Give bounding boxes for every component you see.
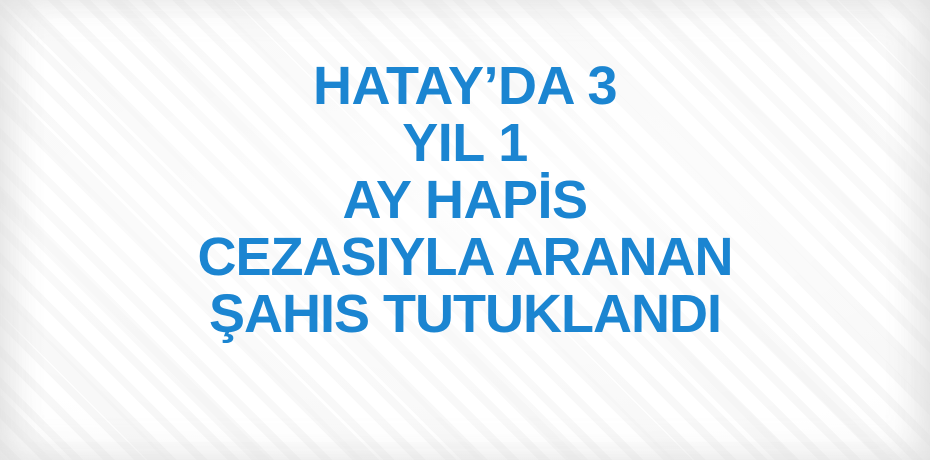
headline-block: HATAY’DA 3 YIL 1 AY HAPİS CEZASIYLA ARAN… xyxy=(0,58,930,343)
headline-line-2: YIL 1 xyxy=(20,115,910,172)
headline-line-4: CEZASIYLA ARANAN xyxy=(20,229,910,286)
headline-line-3: AY HAPİS xyxy=(20,172,910,229)
headline-line-1: HATAY’DA 3 xyxy=(20,58,910,115)
news-headline-card: HATAY’DA 3 YIL 1 AY HAPİS CEZASIYLA ARAN… xyxy=(0,0,930,460)
headline-line-5: ŞAHIS TUTUKLANDI xyxy=(20,286,910,343)
